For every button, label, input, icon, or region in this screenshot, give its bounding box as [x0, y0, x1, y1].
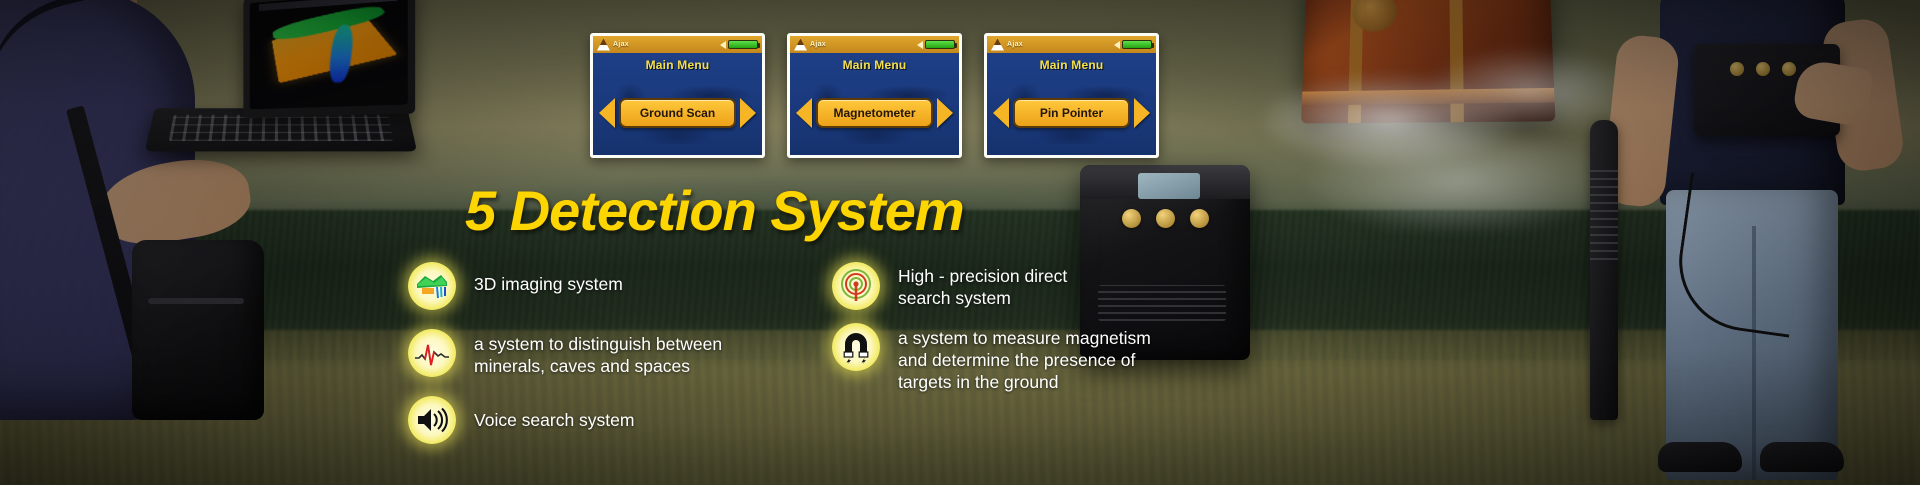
feature-list-left: 3D imaging system a system to distinguis…	[408, 262, 808, 463]
speaker-icon	[1114, 41, 1120, 49]
speaker-icon	[917, 41, 923, 49]
device-screen-pin-pointer[interactable]: Ajax Main Menu Pin Pointer	[984, 33, 1159, 158]
waveform-pulse-icon	[408, 329, 456, 377]
panel-title: Main Menu	[593, 58, 762, 72]
feature-item: High - precision direct search system	[832, 262, 1232, 310]
brand-label: Ajax	[613, 41, 629, 48]
battery-icon	[925, 40, 955, 49]
promo-banner: Ajax Main Menu Ground Scan Ajax	[0, 0, 1920, 485]
device-brand: Ajax	[794, 39, 826, 51]
battery-icon	[1122, 40, 1152, 49]
next-arrow-icon[interactable]	[1134, 98, 1150, 128]
page-title: 5 Detection System	[465, 178, 964, 243]
next-arrow-icon[interactable]	[937, 98, 953, 128]
panel-title: Main Menu	[790, 58, 959, 72]
feature-label: Voice search system	[474, 396, 634, 431]
panel-selector-row: Pin Pointer	[993, 98, 1150, 128]
mode-button[interactable]: Magnetometer	[816, 98, 933, 128]
device-screen-magnetometer[interactable]: Ajax Main Menu Magnetometer	[787, 33, 962, 158]
panel-status-bar: Ajax	[987, 36, 1156, 53]
feature-item: a system to measure magnetism and determ…	[832, 323, 1232, 393]
terrain-3d-scan-icon	[408, 262, 456, 310]
panel-selector-row: Magnetometer	[796, 98, 953, 128]
device-screens-row: Ajax Main Menu Ground Scan Ajax	[590, 33, 1159, 158]
brand-label: Ajax	[810, 41, 826, 48]
speaker-icon	[720, 41, 726, 49]
brand-logo-icon	[794, 39, 807, 51]
feature-item: Voice search system	[408, 396, 808, 444]
status-indicators	[1114, 40, 1152, 49]
speaker-sound-icon	[408, 396, 456, 444]
prev-arrow-icon[interactable]	[796, 98, 812, 128]
mode-button[interactable]: Ground Scan	[619, 98, 736, 128]
panel-selector-row: Ground Scan	[599, 98, 756, 128]
feature-item: 3D imaging system	[408, 262, 808, 310]
feature-label: High - precision direct search system	[898, 262, 1067, 309]
brand-logo-icon	[991, 39, 1004, 51]
feature-item: a system to distinguish between minerals…	[408, 329, 808, 377]
feature-label: a system to distinguish between minerals…	[474, 329, 722, 377]
prev-arrow-icon[interactable]	[599, 98, 615, 128]
panel-status-bar: Ajax	[593, 36, 762, 53]
brand-label: Ajax	[1007, 41, 1023, 48]
device-screen-ground-scan[interactable]: Ajax Main Menu Ground Scan	[590, 33, 765, 158]
device-brand: Ajax	[597, 39, 629, 51]
panel-status-bar: Ajax	[790, 36, 959, 53]
horseshoe-magnet-icon	[832, 323, 880, 371]
status-indicators	[917, 40, 955, 49]
brand-logo-icon	[597, 39, 610, 51]
panel-title: Main Menu	[987, 58, 1156, 72]
feature-label: a system to measure magnetism and determ…	[898, 323, 1151, 393]
device-brand: Ajax	[991, 39, 1023, 51]
status-indicators	[720, 40, 758, 49]
next-arrow-icon[interactable]	[740, 98, 756, 128]
battery-icon	[728, 40, 758, 49]
radar-signal-icon	[832, 262, 880, 310]
mode-button[interactable]: Pin Pointer	[1013, 98, 1130, 128]
feature-label: 3D imaging system	[474, 262, 623, 295]
feature-list-right: High - precision direct search system a …	[832, 262, 1232, 406]
prev-arrow-icon[interactable]	[993, 98, 1009, 128]
